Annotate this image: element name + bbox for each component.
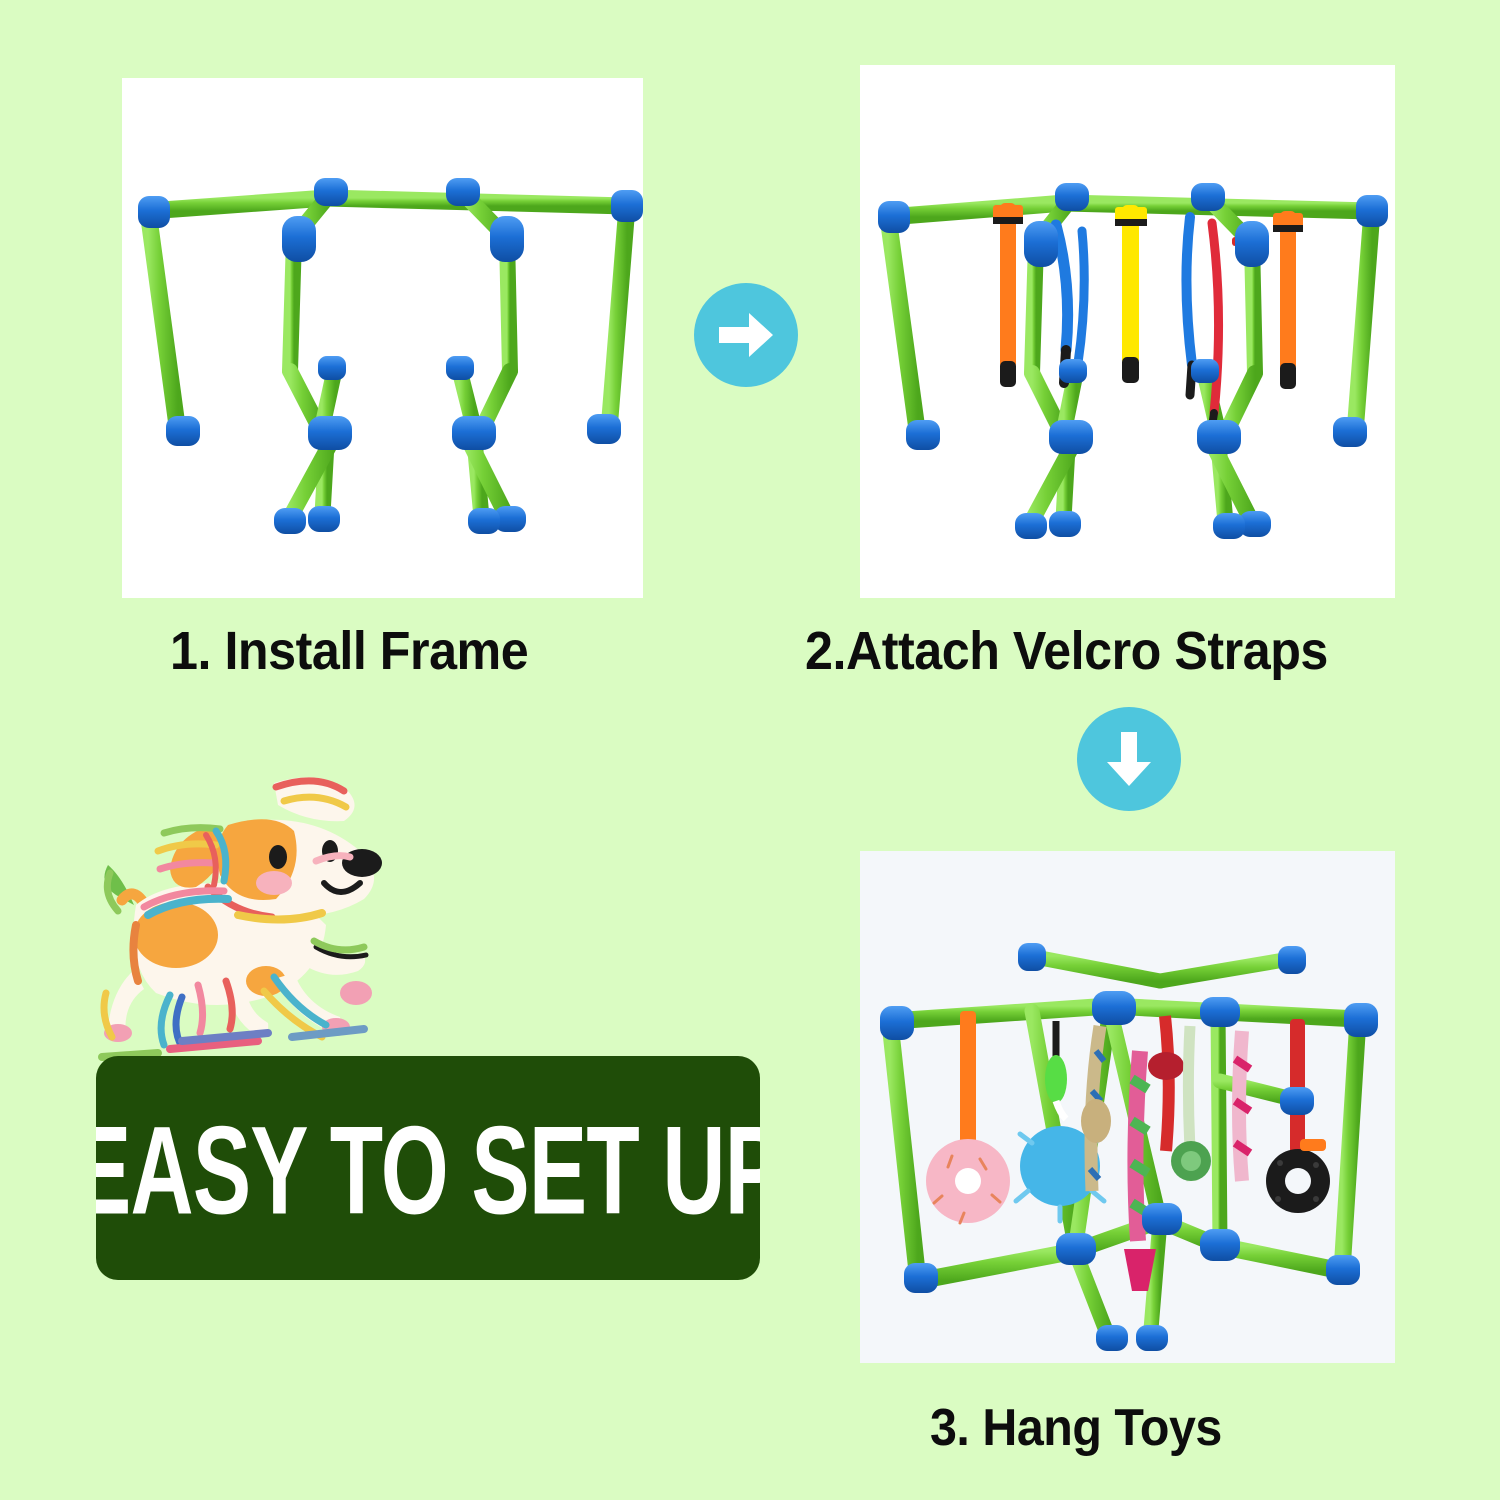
infographic-stage: 1. Install Frame 2.Attach Velcro Straps …: [0, 0, 1500, 1500]
dog-graphic: [78, 765, 418, 1070]
easy-to-set-up-banner: EASY TO SET UP: [96, 1056, 760, 1280]
step-1-caption: 1. Install Frame: [170, 620, 528, 682]
step-2-caption: 2.Attach Velcro Straps: [805, 620, 1328, 682]
arrow-right-glyph: [715, 307, 777, 363]
photo-hang-toys: [860, 851, 1395, 1363]
arrow-right-icon: [694, 283, 798, 387]
photo-attach-velcro-straps: [860, 65, 1395, 598]
arrow-down-glyph: [1101, 728, 1157, 790]
toys-photo-graphic: [860, 851, 1395, 1363]
banner-text: EASY TO SET UP: [96, 1108, 760, 1233]
velcro-photo-graphic: [860, 65, 1395, 598]
photo-install-frame: [122, 78, 643, 598]
arrow-down-icon: [1077, 707, 1181, 811]
running-dog-illustration: [78, 765, 418, 1070]
frame-photo-graphic: [122, 78, 643, 598]
step-3-caption: 3. Hang Toys: [930, 1398, 1222, 1458]
